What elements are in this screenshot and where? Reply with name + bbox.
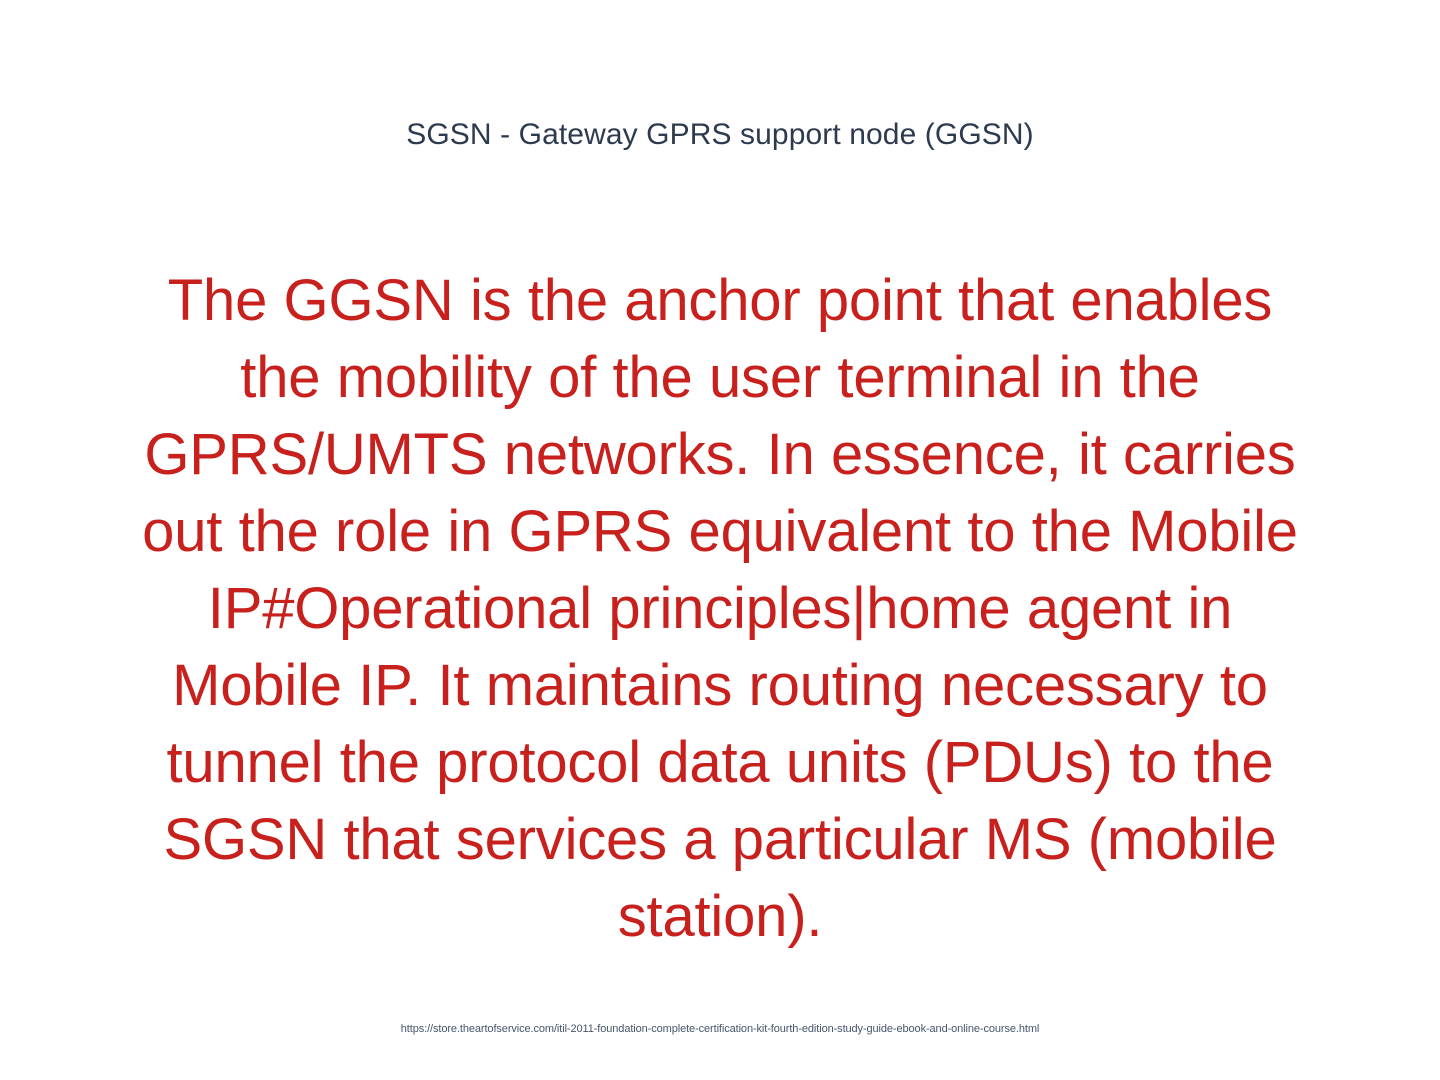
- body-content-block: The GGSN is the anchor point that enable…: [120, 262, 1320, 955]
- body-paragraph: The GGSN is the anchor point that enable…: [120, 262, 1320, 955]
- presentation-slide: SGSN - Gateway GPRS support node (GGSN) …: [0, 0, 1440, 1080]
- page-title: SGSN - Gateway GPRS support node (GGSN): [0, 115, 1440, 155]
- source-url-footer[interactable]: https://store.theartofservice.com/itil-2…: [0, 1022, 1440, 1037]
